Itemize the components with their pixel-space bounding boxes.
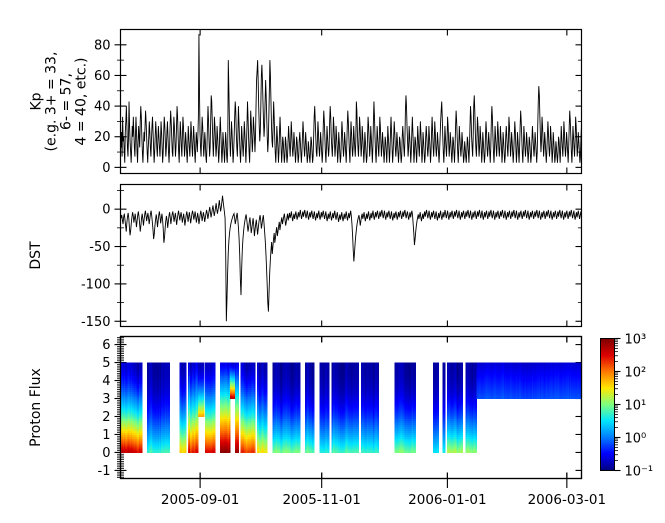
cb-tick-label-0: 10³ (625, 333, 647, 348)
pf-ytick-label-7: 6 (102, 338, 110, 353)
kp-axis-label-line-1: (e.g. 3+ = 33, (44, 52, 60, 152)
cb-tick-label-3: 10⁰ (625, 432, 647, 447)
dst-ytick-label-0: 0 (102, 203, 110, 218)
kp-axis-label: Kp(e.g. 3+ = 33,6- = 57,4 = 40, etc.) (29, 52, 90, 152)
kp-axis-label-line-2: 6- = 57, (59, 73, 75, 130)
kp-axis-label-line-0: Kp (29, 92, 45, 110)
kp-trace (121, 34, 582, 163)
kp-ytick-label-1: 20 (94, 130, 111, 145)
pf-ytick-label-5: 4 (102, 374, 110, 389)
proton-flux-axis-label: Proton Flux (28, 368, 44, 447)
kp-axis-label-line-3: 4 = 40, etc.) (74, 58, 90, 146)
dst-ytick-label-3: -150 (81, 315, 111, 330)
pf-ytick-label-1: 0 (102, 446, 110, 461)
dst-axis-label: DST (28, 241, 44, 270)
xtick-label-2: 2006-01-01 (408, 492, 486, 508)
dst-ytick-label-2: -100 (81, 277, 111, 292)
pf-ytick-label-2: 1 (102, 428, 110, 443)
pf-ytick-label-4: 3 (102, 392, 110, 407)
panel-frame-1 (121, 185, 582, 327)
xtick-label-3: 2006-03-01 (528, 492, 606, 508)
cb-tick-label-1: 10² (625, 366, 647, 381)
kp-ytick-label-3: 60 (94, 69, 111, 84)
figure-root: 2005-09-012005-11-012006-01-012006-03-01… (0, 0, 665, 523)
dst-trace (121, 196, 582, 322)
kp-ytick-label-2: 40 (94, 100, 111, 115)
cb-tick-label-4: 10⁻¹ (625, 465, 654, 480)
kp-ytick-label-0: 0 (102, 161, 110, 176)
pf-ytick-label-0: -1 (98, 464, 111, 479)
xtick-label-1: 2005-11-01 (282, 492, 360, 508)
kp-ytick-label-4: 80 (94, 38, 111, 53)
pf-ytick-label-3: 2 (102, 410, 110, 425)
xtick-label-0: 2005-09-01 (161, 492, 239, 508)
cb-tick-label-2: 10¹ (625, 399, 647, 414)
dst-ytick-label-1: -50 (89, 240, 110, 255)
colorbar-gradient (601, 339, 615, 471)
proton-flux-heatmap (121, 363, 582, 453)
scientific-figure: 2005-09-012005-11-012006-01-012006-03-01… (0, 0, 665, 523)
pf-ytick-label-6: 5 (102, 356, 110, 371)
